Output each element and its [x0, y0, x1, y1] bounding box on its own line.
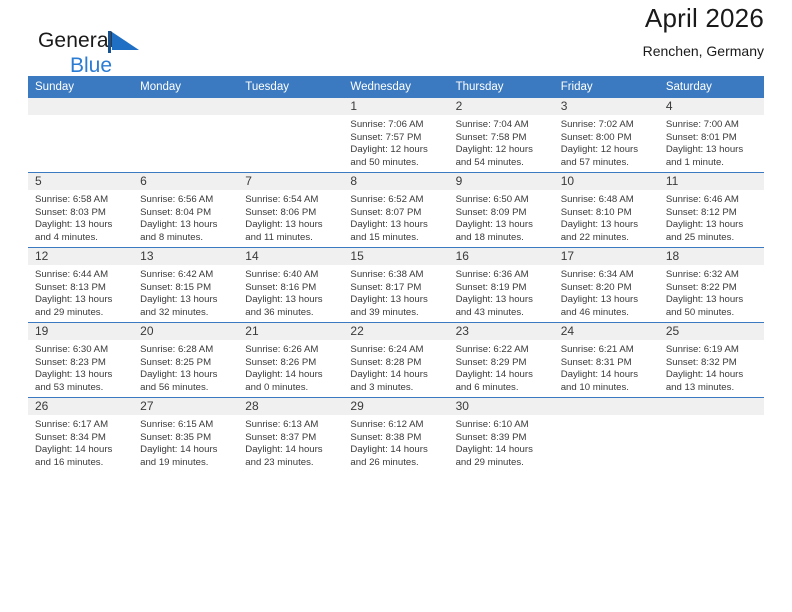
sunrise-text: Sunrise: 6:17 AM: [35, 419, 127, 432]
sunset-text: Sunset: 8:17 PM: [350, 282, 442, 295]
day-number: [28, 98, 133, 115]
day-details: Sunrise: 6:44 AMSunset: 8:13 PMDaylight:…: [28, 265, 133, 319]
sunset-text: Sunset: 8:28 PM: [350, 357, 442, 370]
triangle-flag-icon: [108, 31, 140, 53]
sunrise-text: Sunrise: 6:19 AM: [666, 344, 758, 357]
day-number: 8: [343, 173, 448, 190]
calendar-day-cell[interactable]: 18Sunrise: 6:32 AMSunset: 8:22 PMDayligh…: [659, 248, 764, 323]
sunrise-text: Sunrise: 6:42 AM: [140, 269, 232, 282]
day-details: Sunrise: 6:42 AMSunset: 8:15 PMDaylight:…: [133, 265, 238, 319]
sunrise-text: Sunrise: 6:13 AM: [245, 419, 337, 432]
sunrise-text: Sunrise: 6:10 AM: [456, 419, 548, 432]
calendar-day-cell-empty: [554, 398, 659, 473]
sunrise-text: Sunrise: 6:34 AM: [561, 269, 653, 282]
sunrise-text: Sunrise: 6:40 AM: [245, 269, 337, 282]
day-details: Sunrise: 6:52 AMSunset: 8:07 PMDaylight:…: [343, 190, 448, 244]
daylight-text: Daylight: 14 hours and 3 minutes.: [350, 369, 442, 394]
day-details: Sunrise: 6:46 AMSunset: 8:12 PMDaylight:…: [659, 190, 764, 244]
calendar-day-cell[interactable]: 5Sunrise: 6:58 AMSunset: 8:03 PMDaylight…: [28, 173, 133, 248]
sunset-text: Sunset: 8:07 PM: [350, 207, 442, 220]
daylight-text: Daylight: 13 hours and 15 minutes.: [350, 219, 442, 244]
day-number: 3: [554, 98, 659, 115]
calendar-day-cell[interactable]: 27Sunrise: 6:15 AMSunset: 8:35 PMDayligh…: [133, 398, 238, 473]
day-number: 15: [343, 248, 448, 265]
daylight-text: Daylight: 13 hours and 32 minutes.: [140, 294, 232, 319]
daylight-text: Daylight: 12 hours and 57 minutes.: [561, 144, 653, 169]
daylight-text: Daylight: 14 hours and 29 minutes.: [456, 444, 548, 469]
daylight-text: Daylight: 14 hours and 16 minutes.: [35, 444, 127, 469]
sunset-text: Sunset: 8:19 PM: [456, 282, 548, 295]
calendar-body: 1Sunrise: 7:06 AMSunset: 7:57 PMDaylight…: [28, 98, 764, 472]
day-details: Sunrise: 6:24 AMSunset: 8:28 PMDaylight:…: [343, 340, 448, 394]
sunrise-text: Sunrise: 6:22 AM: [456, 344, 548, 357]
day-details: Sunrise: 7:02 AMSunset: 8:00 PMDaylight:…: [554, 115, 659, 169]
day-details: Sunrise: 6:36 AMSunset: 8:19 PMDaylight:…: [449, 265, 554, 319]
calendar-day-cell[interactable]: 21Sunrise: 6:26 AMSunset: 8:26 PMDayligh…: [238, 323, 343, 398]
daylight-text: Daylight: 13 hours and 39 minutes.: [350, 294, 442, 319]
daylight-text: Daylight: 14 hours and 13 minutes.: [666, 369, 758, 394]
daylight-text: Daylight: 12 hours and 54 minutes.: [456, 144, 548, 169]
day-number: 25: [659, 323, 764, 340]
sunset-text: Sunset: 8:31 PM: [561, 357, 653, 370]
calendar-day-cell-empty: [28, 98, 133, 173]
day-details: Sunrise: 6:28 AMSunset: 8:25 PMDaylight:…: [133, 340, 238, 394]
sunrise-text: Sunrise: 6:28 AM: [140, 344, 232, 357]
calendar-day-cell[interactable]: 10Sunrise: 6:48 AMSunset: 8:10 PMDayligh…: [554, 173, 659, 248]
calendar-day-cell[interactable]: 9Sunrise: 6:50 AMSunset: 8:09 PMDaylight…: [449, 173, 554, 248]
daylight-text: Daylight: 13 hours and 43 minutes.: [456, 294, 548, 319]
day-details: Sunrise: 6:13 AMSunset: 8:37 PMDaylight:…: [238, 415, 343, 469]
daylight-text: Daylight: 14 hours and 19 minutes.: [140, 444, 232, 469]
calendar-day-cell[interactable]: 30Sunrise: 6:10 AMSunset: 8:39 PMDayligh…: [449, 398, 554, 473]
sunrise-text: Sunrise: 6:30 AM: [35, 344, 127, 357]
day-details: Sunrise: 6:21 AMSunset: 8:31 PMDaylight:…: [554, 340, 659, 394]
weekday-header-sunday: Sunday: [28, 76, 133, 98]
calendar-day-cell-empty: [133, 98, 238, 173]
calendar-week-row: 26Sunrise: 6:17 AMSunset: 8:34 PMDayligh…: [28, 398, 764, 473]
calendar-table: Sunday Monday Tuesday Wednesday Thursday…: [28, 76, 764, 472]
weekday-header-saturday: Saturday: [659, 76, 764, 98]
sunset-text: Sunset: 8:34 PM: [35, 432, 127, 445]
calendar-day-cell[interactable]: 19Sunrise: 6:30 AMSunset: 8:23 PMDayligh…: [28, 323, 133, 398]
day-details: Sunrise: 6:38 AMSunset: 8:17 PMDaylight:…: [343, 265, 448, 319]
day-number: 24: [554, 323, 659, 340]
day-details: Sunrise: 6:48 AMSunset: 8:10 PMDaylight:…: [554, 190, 659, 244]
sunrise-text: Sunrise: 6:52 AM: [350, 194, 442, 207]
day-number: 2: [449, 98, 554, 115]
weekday-header-row: Sunday Monday Tuesday Wednesday Thursday…: [28, 76, 764, 98]
day-details: Sunrise: 6:26 AMSunset: 8:26 PMDaylight:…: [238, 340, 343, 394]
logo-line1: General: [38, 30, 112, 54]
day-number: 14: [238, 248, 343, 265]
sunset-text: Sunset: 8:29 PM: [456, 357, 548, 370]
calendar-day-cell[interactable]: 17Sunrise: 6:34 AMSunset: 8:20 PMDayligh…: [554, 248, 659, 323]
day-number: 13: [133, 248, 238, 265]
sunset-text: Sunset: 8:35 PM: [140, 432, 232, 445]
sunrise-text: Sunrise: 6:24 AM: [350, 344, 442, 357]
daylight-text: Daylight: 13 hours and 29 minutes.: [35, 294, 127, 319]
calendar-day-cell[interactable]: 13Sunrise: 6:42 AMSunset: 8:15 PMDayligh…: [133, 248, 238, 323]
sunset-text: Sunset: 8:32 PM: [666, 357, 758, 370]
calendar-day-cell[interactable]: 24Sunrise: 6:21 AMSunset: 8:31 PMDayligh…: [554, 323, 659, 398]
day-details: Sunrise: 6:12 AMSunset: 8:38 PMDaylight:…: [343, 415, 448, 469]
daylight-text: Daylight: 13 hours and 22 minutes.: [561, 219, 653, 244]
day-number: 11: [659, 173, 764, 190]
day-number: 16: [449, 248, 554, 265]
sunrise-text: Sunrise: 6:46 AM: [666, 194, 758, 207]
daylight-text: Daylight: 13 hours and 36 minutes.: [245, 294, 337, 319]
calendar-day-cell[interactable]: 12Sunrise: 6:44 AMSunset: 8:13 PMDayligh…: [28, 248, 133, 323]
daylight-text: Daylight: 13 hours and 50 minutes.: [666, 294, 758, 319]
daylight-text: Daylight: 13 hours and 4 minutes.: [35, 219, 127, 244]
calendar-day-cell[interactable]: 28Sunrise: 6:13 AMSunset: 8:37 PMDayligh…: [238, 398, 343, 473]
general-blue-logo[interactable]: General Blue: [38, 30, 112, 76]
weekday-header-thursday: Thursday: [449, 76, 554, 98]
day-details: Sunrise: 7:00 AMSunset: 8:01 PMDaylight:…: [659, 115, 764, 169]
sunset-text: Sunset: 8:12 PM: [666, 207, 758, 220]
day-details: Sunrise: 6:10 AMSunset: 8:39 PMDaylight:…: [449, 415, 554, 469]
calendar-day-cell[interactable]: 4Sunrise: 7:00 AMSunset: 8:01 PMDaylight…: [659, 98, 764, 173]
day-number: 12: [28, 248, 133, 265]
sunrise-text: Sunrise: 7:02 AM: [561, 119, 653, 132]
day-details: Sunrise: 7:06 AMSunset: 7:57 PMDaylight:…: [343, 115, 448, 169]
day-number: 5: [28, 173, 133, 190]
sunset-text: Sunset: 8:20 PM: [561, 282, 653, 295]
day-details: Sunrise: 6:56 AMSunset: 8:04 PMDaylight:…: [133, 190, 238, 244]
sunrise-text: Sunrise: 6:48 AM: [561, 194, 653, 207]
sunset-text: Sunset: 8:09 PM: [456, 207, 548, 220]
sunset-text: Sunset: 7:58 PM: [456, 132, 548, 145]
day-details: Sunrise: 6:40 AMSunset: 8:16 PMDaylight:…: [238, 265, 343, 319]
day-number: 23: [449, 323, 554, 340]
sunset-text: Sunset: 7:57 PM: [350, 132, 442, 145]
calendar-day-cell[interactable]: 3Sunrise: 7:02 AMSunset: 8:00 PMDaylight…: [554, 98, 659, 173]
page-header: General Blue April 2026 Renchen, Germany: [28, 0, 764, 76]
day-details: Sunrise: 6:22 AMSunset: 8:29 PMDaylight:…: [449, 340, 554, 394]
sunrise-text: Sunrise: 7:04 AM: [456, 119, 548, 132]
day-details: Sunrise: 6:17 AMSunset: 8:34 PMDaylight:…: [28, 415, 133, 469]
sunset-text: Sunset: 8:03 PM: [35, 207, 127, 220]
calendar-week-row: 1Sunrise: 7:06 AMSunset: 7:57 PMDaylight…: [28, 98, 764, 173]
day-number: 30: [449, 398, 554, 415]
page-title: April 2026: [643, 4, 764, 33]
sunset-text: Sunset: 8:23 PM: [35, 357, 127, 370]
day-details: Sunrise: 6:19 AMSunset: 8:32 PMDaylight:…: [659, 340, 764, 394]
calendar-day-cell[interactable]: 25Sunrise: 6:19 AMSunset: 8:32 PMDayligh…: [659, 323, 764, 398]
weekday-header-monday: Monday: [133, 76, 238, 98]
sunset-text: Sunset: 8:25 PM: [140, 357, 232, 370]
day-details: Sunrise: 6:32 AMSunset: 8:22 PMDaylight:…: [659, 265, 764, 319]
day-details: Sunrise: 6:34 AMSunset: 8:20 PMDaylight:…: [554, 265, 659, 319]
calendar-day-cell[interactable]: 7Sunrise: 6:54 AMSunset: 8:06 PMDaylight…: [238, 173, 343, 248]
title-block: April 2026 Renchen, Germany: [643, 4, 764, 59]
calendar-page: General Blue April 2026 Renchen, Germany…: [0, 0, 792, 612]
sunset-text: Sunset: 8:37 PM: [245, 432, 337, 445]
day-number: 20: [133, 323, 238, 340]
sunrise-text: Sunrise: 6:44 AM: [35, 269, 127, 282]
day-details: Sunrise: 6:50 AMSunset: 8:09 PMDaylight:…: [449, 190, 554, 244]
day-number: 17: [554, 248, 659, 265]
day-number: 10: [554, 173, 659, 190]
day-details: Sunrise: 6:54 AMSunset: 8:06 PMDaylight:…: [238, 190, 343, 244]
page-subtitle: Renchen, Germany: [643, 44, 764, 59]
logo-blue-text: Blue: [70, 55, 112, 76]
sunrise-text: Sunrise: 7:06 AM: [350, 119, 442, 132]
day-number: 21: [238, 323, 343, 340]
day-details: Sunrise: 6:15 AMSunset: 8:35 PMDaylight:…: [133, 415, 238, 469]
day-details: Sunrise: 6:58 AMSunset: 8:03 PMDaylight:…: [28, 190, 133, 244]
daylight-text: Daylight: 13 hours and 46 minutes.: [561, 294, 653, 319]
sunset-text: Sunset: 8:15 PM: [140, 282, 232, 295]
daylight-text: Daylight: 12 hours and 50 minutes.: [350, 144, 442, 169]
calendar-day-cell[interactable]: 20Sunrise: 6:28 AMSunset: 8:25 PMDayligh…: [133, 323, 238, 398]
day-number: 7: [238, 173, 343, 190]
sunset-text: Sunset: 8:10 PM: [561, 207, 653, 220]
daylight-text: Daylight: 13 hours and 11 minutes.: [245, 219, 337, 244]
sunrise-text: Sunrise: 6:12 AM: [350, 419, 442, 432]
daylight-text: Daylight: 13 hours and 18 minutes.: [456, 219, 548, 244]
day-number: 28: [238, 398, 343, 415]
weekday-header-tuesday: Tuesday: [238, 76, 343, 98]
sunset-text: Sunset: 8:06 PM: [245, 207, 337, 220]
sunset-text: Sunset: 8:38 PM: [350, 432, 442, 445]
calendar-day-cell[interactable]: 23Sunrise: 6:22 AMSunset: 8:29 PMDayligh…: [449, 323, 554, 398]
calendar-day-cell[interactable]: 22Sunrise: 6:24 AMSunset: 8:28 PMDayligh…: [343, 323, 448, 398]
calendar-week-row: 12Sunrise: 6:44 AMSunset: 8:13 PMDayligh…: [28, 248, 764, 323]
sunrise-text: Sunrise: 6:32 AM: [666, 269, 758, 282]
daylight-text: Daylight: 13 hours and 25 minutes.: [666, 219, 758, 244]
daylight-text: Daylight: 13 hours and 8 minutes.: [140, 219, 232, 244]
sunset-text: Sunset: 8:26 PM: [245, 357, 337, 370]
daylight-text: Daylight: 13 hours and 1 minute.: [666, 144, 758, 169]
calendar-day-cell-empty: [659, 398, 764, 473]
day-number: 29: [343, 398, 448, 415]
sunset-text: Sunset: 8:13 PM: [35, 282, 127, 295]
day-number: 4: [659, 98, 764, 115]
day-number: 6: [133, 173, 238, 190]
weekday-header-friday: Friday: [554, 76, 659, 98]
sunrise-text: Sunrise: 6:58 AM: [35, 194, 127, 207]
daylight-text: Daylight: 14 hours and 10 minutes.: [561, 369, 653, 394]
daylight-text: Daylight: 14 hours and 26 minutes.: [350, 444, 442, 469]
sunrise-text: Sunrise: 6:21 AM: [561, 344, 653, 357]
calendar-day-cell[interactable]: 15Sunrise: 6:38 AMSunset: 8:17 PMDayligh…: [343, 248, 448, 323]
daylight-text: Daylight: 14 hours and 6 minutes.: [456, 369, 548, 394]
calendar-week-row: 19Sunrise: 6:30 AMSunset: 8:23 PMDayligh…: [28, 323, 764, 398]
calendar-day-cell[interactable]: 29Sunrise: 6:12 AMSunset: 8:38 PMDayligh…: [343, 398, 448, 473]
calendar-week-row: 5Sunrise: 6:58 AMSunset: 8:03 PMDaylight…: [28, 173, 764, 248]
sunrise-text: Sunrise: 6:38 AM: [350, 269, 442, 282]
day-number: [133, 98, 238, 115]
sunrise-text: Sunrise: 6:56 AM: [140, 194, 232, 207]
calendar-day-cell[interactable]: 6Sunrise: 6:56 AMSunset: 8:04 PMDaylight…: [133, 173, 238, 248]
sunset-text: Sunset: 8:00 PM: [561, 132, 653, 145]
day-number: 26: [28, 398, 133, 415]
day-details: Sunrise: 6:30 AMSunset: 8:23 PMDaylight:…: [28, 340, 133, 394]
day-details: Sunrise: 7:04 AMSunset: 7:58 PMDaylight:…: [449, 115, 554, 169]
sunset-text: Sunset: 8:16 PM: [245, 282, 337, 295]
daylight-text: Daylight: 14 hours and 0 minutes.: [245, 369, 337, 394]
day-number: 27: [133, 398, 238, 415]
weekday-header-wednesday: Wednesday: [343, 76, 448, 98]
calendar-day-cell[interactable]: 14Sunrise: 6:40 AMSunset: 8:16 PMDayligh…: [238, 248, 343, 323]
day-number: [554, 398, 659, 415]
calendar-day-cell[interactable]: 26Sunrise: 6:17 AMSunset: 8:34 PMDayligh…: [28, 398, 133, 473]
calendar-day-cell[interactable]: 16Sunrise: 6:36 AMSunset: 8:19 PMDayligh…: [449, 248, 554, 323]
sunrise-text: Sunrise: 6:26 AM: [245, 344, 337, 357]
calendar-day-cell-empty: [238, 98, 343, 173]
sunrise-text: Sunrise: 6:15 AM: [140, 419, 232, 432]
day-number: 18: [659, 248, 764, 265]
calendar-day-cell[interactable]: 8Sunrise: 6:52 AMSunset: 8:07 PMDaylight…: [343, 173, 448, 248]
sunset-text: Sunset: 8:22 PM: [666, 282, 758, 295]
logo-general-text: General: [38, 30, 113, 51]
sunrise-text: Sunrise: 6:36 AM: [456, 269, 548, 282]
sunset-text: Sunset: 8:39 PM: [456, 432, 548, 445]
day-number: 19: [28, 323, 133, 340]
day-number: 9: [449, 173, 554, 190]
day-number: 1: [343, 98, 448, 115]
daylight-text: Daylight: 14 hours and 23 minutes.: [245, 444, 337, 469]
calendar-day-cell[interactable]: 11Sunrise: 6:46 AMSunset: 8:12 PMDayligh…: [659, 173, 764, 248]
sunrise-text: Sunrise: 6:54 AM: [245, 194, 337, 207]
day-number: [238, 98, 343, 115]
sunrise-text: Sunrise: 7:00 AM: [666, 119, 758, 132]
daylight-text: Daylight: 13 hours and 53 minutes.: [35, 369, 127, 394]
calendar-day-cell[interactable]: 1Sunrise: 7:06 AMSunset: 7:57 PMDaylight…: [343, 98, 448, 173]
calendar-day-cell[interactable]: 2Sunrise: 7:04 AMSunset: 7:58 PMDaylight…: [449, 98, 554, 173]
sunset-text: Sunset: 8:01 PM: [666, 132, 758, 145]
sunrise-text: Sunrise: 6:50 AM: [456, 194, 548, 207]
daylight-text: Daylight: 13 hours and 56 minutes.: [140, 369, 232, 394]
day-number: 22: [343, 323, 448, 340]
day-number: [659, 398, 764, 415]
sunset-text: Sunset: 8:04 PM: [140, 207, 232, 220]
